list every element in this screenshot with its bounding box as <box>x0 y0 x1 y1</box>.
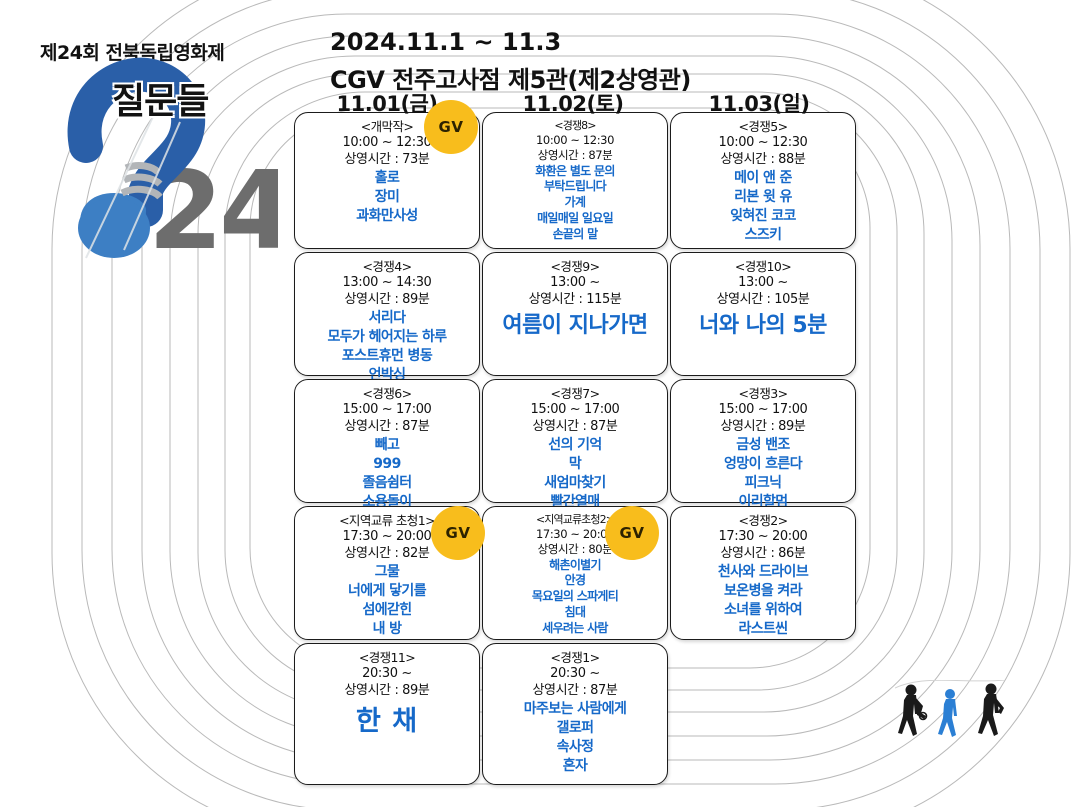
screening-time: 10:00 ~ 12:30 <box>487 133 663 148</box>
screening-card[interactable]: <경쟁6>15:00 ~ 17:00상영시간 : 87분빼고999졸음쉼터소용돌… <box>294 379 480 503</box>
film-title[interactable]: 보온병을 켜라 <box>675 582 851 601</box>
film-title[interactable]: 잊혀진 코코 <box>675 207 851 226</box>
screening-time: 15:00 ~ 17:00 <box>487 402 663 419</box>
screening-runtime: 상영시간 : 86분 <box>675 546 851 563</box>
program-code: <경쟁7> <box>487 386 663 402</box>
film-title[interactable]: 과화만사성 <box>299 207 475 226</box>
program-code: <경쟁8> <box>487 119 663 133</box>
screening-runtime: 상영시간 : 87분 <box>487 148 663 163</box>
program-code: <경쟁11> <box>299 650 475 666</box>
film-list: 메이 앤 준리본 윗 유잊혀진 코코스즈키 <box>675 169 851 244</box>
film-list: 여름이 지나가면 <box>487 312 663 341</box>
film-list: 한 채 <box>299 704 475 739</box>
film-title[interactable]: 메이 앤 준 <box>675 169 851 188</box>
film-list: 금성 밴조엉망이 흐른다피크닉이리할멈 <box>675 436 851 511</box>
program-code: <경쟁5> <box>675 119 851 135</box>
festival-dates: 2024.11.1 ~ 11.3 <box>330 28 691 56</box>
program-code: <경쟁1> <box>487 650 663 666</box>
schedule-grid: <개막작>10:00 ~ 12:30상영시간 : 73분홀로장미과화만사성<경쟁… <box>294 112 856 788</box>
program-code: <경쟁10> <box>675 259 851 275</box>
film-title[interactable]: 서리다 <box>299 309 475 328</box>
screening-time: 13:00 ~ <box>487 275 663 292</box>
screening-runtime: 상영시간 : 115분 <box>487 292 663 309</box>
gv-badge-local-exchange-2[interactable]: GV <box>605 506 659 560</box>
festival-slogan: 질문들 <box>112 72 208 124</box>
schedule-cell-slot: <경쟁5>10:00 ~ 12:30상영시간 : 88분메이 앤 준리본 윗 유… <box>670 112 856 249</box>
program-code: <경쟁9> <box>487 259 663 275</box>
schedule-cell-slot: <경쟁9>13:00 ~상영시간 : 115분여름이 지나가면 <box>482 252 668 376</box>
film-list: 빼고999졸음쉼터소용돌이 <box>299 436 475 511</box>
gv-badge-opening[interactable]: GV <box>424 100 478 154</box>
screening-card[interactable]: <경쟁7>15:00 ~ 17:00상영시간 : 87분선의 기억막새엄마찾기빨… <box>482 379 668 503</box>
film-title[interactable]: 침대 <box>487 605 663 621</box>
film-title[interactable]: 섬에갇힌 <box>299 601 475 620</box>
film-title[interactable]: 여름이 지나가면 <box>487 312 663 341</box>
film-title[interactable]: 부탁드립니다 <box>487 179 663 195</box>
schedule-cell-slot: <경쟁2>17:30 ~ 20:00상영시간 : 86분천사와 드라이브보온병을… <box>670 506 856 640</box>
film-title[interactable]: 마주보는 사람에게 <box>487 700 663 719</box>
screening-time: 15:00 ~ 17:00 <box>299 402 475 419</box>
screening-card[interactable]: <경쟁3>15:00 ~ 17:00상영시간 : 89분금성 밴조엉망이 흐른다… <box>670 379 856 503</box>
film-title[interactable]: 리본 윗 유 <box>675 188 851 207</box>
screening-runtime: 상영시간 : 105분 <box>675 292 851 309</box>
film-title[interactable]: 혼자 <box>487 757 663 776</box>
film-title[interactable]: 목요일의 스파게티 <box>487 589 663 605</box>
film-title[interactable]: 999 <box>299 455 475 474</box>
film-title[interactable]: 한 채 <box>299 704 475 739</box>
screening-time: 20:30 ~ <box>487 666 663 683</box>
film-title[interactable]: 너와 나의 5분 <box>675 312 851 341</box>
film-list: 그물너에게 닿기를섬에갇힌내 방 <box>299 563 475 638</box>
film-title[interactable]: 너에게 닿기를 <box>299 582 475 601</box>
film-title[interactable]: 새엄마찾기 <box>487 474 663 493</box>
day-header-row: 11.01(금) 11.02(토) 11.03(일) <box>294 88 854 116</box>
film-list: 화환은 별도 문의부탁드립니다가계매일매일 일요일손끝의 말 <box>487 164 663 243</box>
screening-card[interactable]: <경쟁10>13:00 ~상영시간 : 105분너와 나의 5분 <box>670 252 856 376</box>
screening-runtime: 상영시간 : 87분 <box>299 419 475 436</box>
screening-card[interactable]: <경쟁2>17:30 ~ 20:00상영시간 : 86분천사와 드라이브보온병을… <box>670 506 856 640</box>
film-title[interactable]: 선의 기억 <box>487 436 663 455</box>
screening-card[interactable]: <경쟁11>20:30 ~상영시간 : 89분한 채 <box>294 643 480 785</box>
screening-runtime: 상영시간 : 87분 <box>487 419 663 436</box>
film-title[interactable]: 소녀를 위하여 <box>675 601 851 620</box>
film-list: 서리다모두가 헤어지는 하루포스트휴먼 병동언박싱 <box>299 309 475 384</box>
screening-runtime: 상영시간 : 89분 <box>299 683 475 700</box>
film-title[interactable]: 스즈키 <box>675 226 851 245</box>
walking-people-decoration <box>895 680 1025 755</box>
program-code: <경쟁4> <box>299 259 475 275</box>
film-title[interactable]: 빼고 <box>299 436 475 455</box>
film-title[interactable]: 안경 <box>487 573 663 589</box>
schedule-row: <지역교류 초청1>17:30 ~ 20:00상영시간 : 82분그물너에게 닿… <box>294 506 856 640</box>
schedule-row: <경쟁11>20:30 ~상영시간 : 89분한 채<경쟁1>20:30 ~상영… <box>294 643 856 785</box>
film-title[interactable]: 내 방 <box>299 620 475 639</box>
screening-time: 10:00 ~ 12:30 <box>675 135 851 152</box>
schedule-cell-slot <box>670 643 856 785</box>
screening-time: 20:30 ~ <box>299 666 475 683</box>
screening-runtime: 상영시간 : 89분 <box>675 419 851 436</box>
film-title[interactable]: 매일매일 일요일 <box>487 211 663 227</box>
schedule-row: <개막작>10:00 ~ 12:30상영시간 : 73분홀로장미과화만사성<경쟁… <box>294 112 856 249</box>
film-title[interactable]: 천사와 드라이브 <box>675 563 851 582</box>
program-code: <경쟁2> <box>675 513 851 529</box>
film-list: 천사와 드라이브보온병을 켜라소녀를 위하여라스트씬 <box>675 563 851 638</box>
screening-card[interactable]: <경쟁5>10:00 ~ 12:30상영시간 : 88분메이 앤 준리본 윗 유… <box>670 112 856 249</box>
screening-card[interactable]: <경쟁9>13:00 ~상영시간 : 115분여름이 지나가면 <box>482 252 668 376</box>
film-title[interactable]: 세우려는 사람 <box>487 621 663 637</box>
schedule-row: <경쟁4>13:00 ~ 14:30상영시간 : 89분서리다모두가 헤어지는 … <box>294 252 856 376</box>
film-list: 해촌이별기안경목요일의 스파게티침대세우려는 사람 <box>487 558 663 637</box>
screening-runtime: 상영시간 : 73분 <box>299 152 475 169</box>
screening-time: 13:00 ~ <box>675 275 851 292</box>
program-code: <경쟁6> <box>299 386 475 402</box>
film-title[interactable]: 가계 <box>487 195 663 211</box>
schedule-cell-slot: <경쟁4>13:00 ~ 14:30상영시간 : 89분서리다모두가 헤어지는 … <box>294 252 480 376</box>
screening-time: 13:00 ~ 14:30 <box>299 275 475 292</box>
screening-runtime: 상영시간 : 89분 <box>299 292 475 309</box>
film-title[interactable]: 속사정 <box>487 738 663 757</box>
film-title[interactable]: 그물 <box>299 563 475 582</box>
poster-canvas: 제24회 전북독립영화제 24 질문들 2024.11.1 ~ 11. <box>0 0 1080 807</box>
screening-time: 15:00 ~ 17:00 <box>675 402 851 419</box>
schedule-cell-slot: <경쟁8>10:00 ~ 12:30상영시간 : 87분화환은 별도 문의부탁드… <box>482 112 668 249</box>
festival-logo: 제24회 전북독립영화제 24 질문들 <box>28 30 288 290</box>
film-title[interactable]: 장미 <box>299 188 475 207</box>
screening-time: 17:30 ~ 20:00 <box>675 529 851 546</box>
schedule-cell-slot: <경쟁10>13:00 ~상영시간 : 105분너와 나의 5분 <box>670 252 856 376</box>
schedule-cell-slot: <경쟁7>15:00 ~ 17:00상영시간 : 87분선의 기억막새엄마찾기빨… <box>482 379 668 503</box>
film-title[interactable]: 졸음쉼터 <box>299 474 475 493</box>
film-title[interactable]: 금성 밴조 <box>675 436 851 455</box>
schedule-cell-slot: <경쟁3>15:00 ~ 17:00상영시간 : 89분금성 밴조엉망이 흐른다… <box>670 379 856 503</box>
film-title[interactable]: 막 <box>487 455 663 474</box>
film-title[interactable]: 화환은 별도 문의 <box>487 164 663 180</box>
schedule-cell-slot: <경쟁6>15:00 ~ 17:00상영시간 : 87분빼고999졸음쉼터소용돌… <box>294 379 480 503</box>
film-title[interactable]: 손끝의 말 <box>487 227 663 243</box>
day-header-3: 11.03(일) <box>666 88 852 116</box>
program-code: <경쟁3> <box>675 386 851 402</box>
day-header-2: 11.02(토) <box>480 88 666 116</box>
screening-card[interactable]: <경쟁8>10:00 ~ 12:30상영시간 : 87분화환은 별도 문의부탁드… <box>482 112 668 249</box>
film-title[interactable]: 해촌이별기 <box>487 558 663 574</box>
film-title[interactable]: 피크닉 <box>675 474 851 493</box>
schedule-cell-slot: <경쟁11>20:30 ~상영시간 : 89분한 채 <box>294 643 480 785</box>
schedule-row: <경쟁6>15:00 ~ 17:00상영시간 : 87분빼고999졸음쉼터소용돌… <box>294 379 856 503</box>
film-list: 마주보는 사람에게갤로퍼속사정혼자 <box>487 700 663 775</box>
screening-runtime: 상영시간 : 87분 <box>487 683 663 700</box>
film-title[interactable]: 엉망이 흐른다 <box>675 455 851 474</box>
screening-card[interactable]: <경쟁1>20:30 ~상영시간 : 87분마주보는 사람에게갤로퍼속사정혼자 <box>482 643 668 785</box>
film-title[interactable]: 모두가 헤어지는 하루 <box>299 328 475 347</box>
schedule-cell-slot: <경쟁1>20:30 ~상영시간 : 87분마주보는 사람에게갤로퍼속사정혼자 <box>482 643 668 785</box>
film-title[interactable]: 홀로 <box>299 169 475 188</box>
film-list: 너와 나의 5분 <box>675 312 851 341</box>
screening-runtime: 상영시간 : 88분 <box>675 152 851 169</box>
poster-title: 2024.11.1 ~ 11.3 CGV 전주고사점 제5관(제2상영관) <box>330 28 691 95</box>
film-list: 선의 기억막새엄마찾기빨간열매 <box>487 436 663 511</box>
film-list: 홀로장미과화만사성 <box>299 169 475 225</box>
gv-badge-local-exchange-1[interactable]: GV <box>431 506 485 560</box>
film-title[interactable]: 포스트휴먼 병동 <box>299 347 475 366</box>
screening-card[interactable]: <경쟁4>13:00 ~ 14:30상영시간 : 89분서리다모두가 헤어지는 … <box>294 252 480 376</box>
film-title[interactable]: 갤로퍼 <box>487 719 663 738</box>
film-title[interactable]: 라스트씬 <box>675 620 851 639</box>
